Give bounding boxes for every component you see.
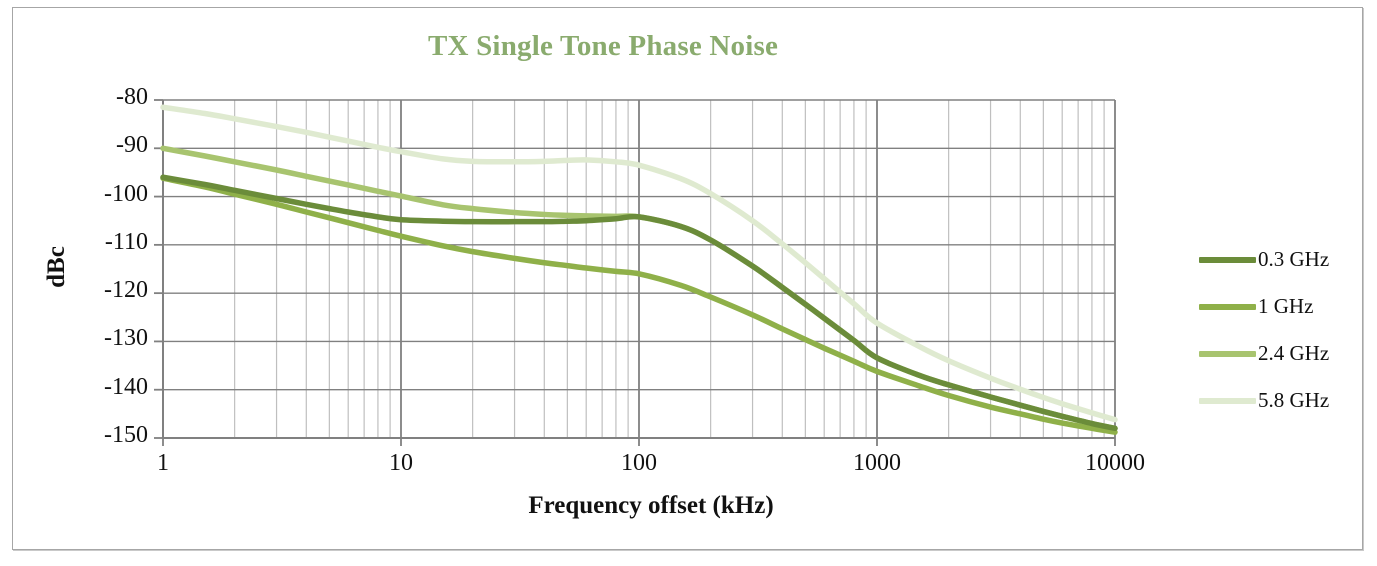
x-axis-title: Frequency offset (kHz)	[175, 492, 1127, 520]
chart-figure-frame: TX Single Tone Phase Noise dBc Frequency…	[12, 7, 1363, 550]
legend-item-label: 5.8 GHz	[1258, 388, 1329, 413]
y-axis-tick-label: -110	[58, 229, 148, 256]
legend-color-swatch	[1199, 351, 1256, 357]
legend-color-swatch	[1199, 304, 1256, 310]
legend-item-label: 2.4 GHz	[1258, 341, 1329, 366]
y-axis-tick-label: -120	[58, 277, 148, 304]
x-axis-tick-label: 10000	[1055, 450, 1175, 477]
y-axis-tick-label: -90	[58, 132, 148, 159]
legend-item-label: 0.3 GHz	[1258, 247, 1329, 272]
x-axis-tick-label: 1	[103, 450, 223, 477]
legend-item-label: 1 GHz	[1258, 294, 1313, 319]
y-axis-title: dBc	[43, 207, 71, 327]
legend-color-swatch	[1199, 398, 1256, 404]
minor-gridlines	[235, 100, 1104, 438]
legend-item-1-ghz[interactable]: 1 GHz	[1199, 283, 1359, 330]
y-axis-tick-label: -140	[58, 374, 148, 401]
legend-item-5-8-ghz[interactable]: 5.8 GHz	[1199, 377, 1359, 424]
x-axis-tick-label: 100	[579, 450, 699, 477]
y-axis-tick-label: -130	[58, 325, 148, 352]
y-axis-tick-label: -150	[58, 422, 148, 449]
legend-color-swatch	[1199, 257, 1256, 263]
chart-legend: 0.3 GHz1 GHz2.4 GHz5.8 GHz	[1199, 236, 1359, 424]
legend-item-2-4-ghz[interactable]: 2.4 GHz	[1199, 330, 1359, 377]
y-axis-tick-label: -80	[58, 84, 148, 111]
x-axis-tick-label: 10	[341, 450, 461, 477]
legend-item-0-3-ghz[interactable]: 0.3 GHz	[1199, 236, 1359, 283]
x-axis-tick-label: 1000	[817, 450, 937, 477]
y-axis-tick-label: -100	[58, 181, 148, 208]
